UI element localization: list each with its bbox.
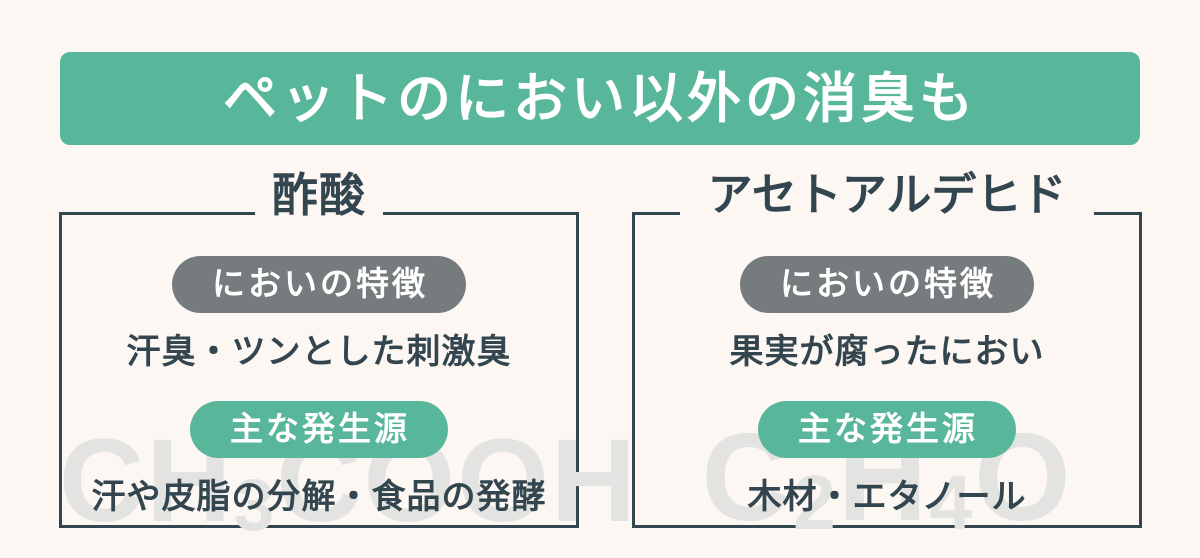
comparison-panels: 酢酸 CH3COOH においの特徴 汗臭・ツンとした刺激臭 主な発生源 汗や皮脂… [0, 0, 1200, 558]
value-main-source: 汗や皮脂の分解・食品の発酵 [92, 480, 547, 514]
label-main-source: 主な発生源 [758, 401, 1016, 458]
label-odor-characteristic: においの特徴 [172, 256, 466, 313]
panel-body-acetic-acid: においの特徴 汗臭・ツンとした刺激臭 主な発生源 汗や皮脂の分解・食品の発酵 [59, 212, 579, 528]
value-main-source: 木材・エタノール [748, 480, 1027, 514]
panel-title-acetaldehyde: アセトアルデヒド [632, 172, 1142, 217]
label-main-source: 主な発生源 [190, 401, 448, 458]
panel-acetic-acid: 酢酸 CH3COOH においの特徴 汗臭・ツンとした刺激臭 主な発生源 汗や皮脂… [59, 212, 579, 528]
panel-body-acetaldehyde: においの特徴 果実が腐ったにおい 主な発生源 木材・エタノール [632, 212, 1142, 528]
panel-acetaldehyde: アセトアルデヒド C2H4O においの特徴 果実が腐ったにおい 主な発生源 木材… [632, 212, 1142, 528]
label-odor-characteristic: においの特徴 [740, 256, 1034, 313]
value-odor-characteristic: 果実が腐ったにおい [730, 335, 1045, 369]
value-odor-characteristic: 汗臭・ツンとした刺激臭 [127, 335, 512, 369]
